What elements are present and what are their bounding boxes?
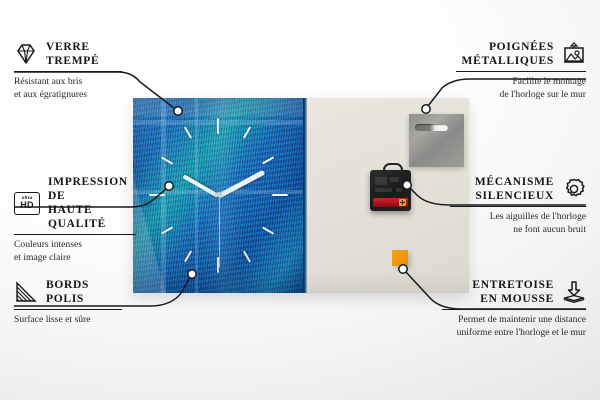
callout-sub-line2: uniforme entre l'horloge et le mur xyxy=(457,327,586,338)
callout-subtitle: Permet de maintenir une distance uniform… xyxy=(442,314,586,339)
clock-tick xyxy=(217,257,219,273)
clock-hour-hand xyxy=(182,174,219,197)
hanger-keyhole-slot xyxy=(415,124,448,131)
callout-subtitle: Résistant aux bris et aux égratignures xyxy=(14,76,122,101)
callout-title-line2: MÉTALLIQUES xyxy=(462,55,554,67)
callout-sub-line1: Facilite le montage xyxy=(512,76,586,87)
clock-tick xyxy=(217,118,219,134)
battery xyxy=(373,198,408,207)
callout-title: BORDS POLIS xyxy=(46,278,89,306)
callout-title-line2: HAUTE QUALITÉ xyxy=(48,204,106,230)
callout-silent-mechanism: MÉCANISME SILENCIEUX Les aiguilles de l'… xyxy=(450,175,586,237)
callout-rule xyxy=(456,71,586,72)
callout-title-line1: MÉCANISME xyxy=(475,176,554,188)
callout-title-line2: TREMPÉ xyxy=(46,55,99,67)
gear-icon xyxy=(562,177,586,201)
callout-sub-line1: Surface lisse et sûre xyxy=(14,314,90,325)
clock-tick xyxy=(262,156,274,165)
hanging-frame-icon xyxy=(562,42,586,66)
callout-title-line1: POIGNÉES xyxy=(489,41,554,53)
infographic-canvas: VERRE TREMPÉ Résistant aux bris et aux é… xyxy=(0,0,600,400)
callout-rule xyxy=(14,71,122,72)
callout-title: IMPRESSION DE HAUTE QUALITÉ xyxy=(48,175,136,231)
callout-foam-spacer: ENTRETOISE EN MOUSSE Permet de maintenir… xyxy=(442,278,586,340)
clock-front-face xyxy=(133,98,305,293)
callout-title: POIGNÉES MÉTALLIQUES xyxy=(462,40,554,68)
callout-sub-line2: et aux égratignures xyxy=(14,89,87,100)
arrow-down-foam-icon xyxy=(562,280,586,304)
polished-edge-icon xyxy=(14,280,38,304)
callout-rule xyxy=(442,309,586,310)
callout-subtitle: Facilite le montage de l'horloge sur le … xyxy=(456,76,586,101)
callout-header: MÉCANISME SILENCIEUX xyxy=(450,175,586,203)
clock-center-hub xyxy=(216,192,221,197)
callout-polished-edges: BORDS POLIS Surface lisse et sûre xyxy=(14,278,122,327)
metal-hanger-plate xyxy=(409,114,464,167)
callout-title-line2: POLIS xyxy=(46,293,84,305)
clock-tick xyxy=(161,226,173,235)
foam-spacer-sample xyxy=(392,250,408,266)
clock-tick xyxy=(184,250,193,262)
clock-tick xyxy=(262,226,274,235)
callout-title-line1: IMPRESSION DE xyxy=(48,176,128,202)
clock-tick xyxy=(149,194,165,196)
callout-title-line1: VERRE xyxy=(46,41,90,53)
clock-tick xyxy=(243,250,252,262)
clock-minute-hand xyxy=(217,170,265,198)
callout-title-line2: EN MOUSSE xyxy=(480,293,554,305)
callout-subtitle: Couleurs intenses et image claire xyxy=(14,239,136,264)
callout-header: ENTRETOISE EN MOUSSE xyxy=(442,278,586,306)
callout-sub-line1: Couleurs intenses xyxy=(14,239,82,250)
callout-title: VERRE TREMPÉ xyxy=(46,40,99,68)
callout-title-line1: BORDS xyxy=(46,279,89,291)
callout-sub-line1: Permet de maintenir une distance xyxy=(458,314,586,325)
callout-sub-line1: Les aiguilles de l'horloge xyxy=(490,211,586,222)
ultra-hd-icon: ultra HD xyxy=(14,192,40,215)
callout-sub-line2: et image claire xyxy=(14,252,70,263)
callout-title: ENTRETOISE EN MOUSSE xyxy=(472,278,554,306)
clock-tick xyxy=(243,126,252,138)
clock-tick xyxy=(272,194,288,196)
callout-subtitle: Les aiguilles de l'horloge ne font aucun… xyxy=(450,211,586,236)
diamond-icon xyxy=(14,42,38,66)
callout-header: VERRE TREMPÉ xyxy=(14,40,122,68)
callout-title-line1: ENTRETOISE xyxy=(472,279,554,291)
clock-tick xyxy=(161,156,173,165)
clock-tick xyxy=(184,126,193,138)
callout-rule xyxy=(450,206,586,207)
callout-tempered-glass: VERRE TREMPÉ Résistant aux bris et aux é… xyxy=(14,40,122,102)
callout-sub-line2: de l'horloge sur le mur xyxy=(500,89,586,100)
clock-mechanism xyxy=(370,170,411,211)
battery-plus-terminal xyxy=(399,199,406,206)
callout-header: ultra HD IMPRESSION DE HAUTE QUALITÉ xyxy=(14,175,136,231)
callout-metal-handles: POIGNÉES MÉTALLIQUES Facilite le montage… xyxy=(456,40,586,102)
callout-sub-line2: ne font aucun bruit xyxy=(513,224,586,235)
mechanism-hanger-tab xyxy=(383,163,403,174)
callout-rule xyxy=(14,234,136,235)
callout-print-quality: ultra HD IMPRESSION DE HAUTE QUALITÉ Cou… xyxy=(14,175,136,265)
callout-header: BORDS POLIS xyxy=(14,278,122,306)
callout-sub-line1: Résistant aux bris xyxy=(14,76,82,87)
callout-rule xyxy=(14,309,122,310)
callout-subtitle: Surface lisse et sûre xyxy=(14,314,122,327)
callout-title-line2: SILENCIEUX xyxy=(475,190,554,202)
clock-second-hand xyxy=(219,195,220,267)
callout-title: MÉCANISME SILENCIEUX xyxy=(475,175,554,203)
ultra-hd-icon-bottom: HD xyxy=(20,201,33,210)
callout-header: POIGNÉES MÉTALLIQUES xyxy=(456,40,586,68)
